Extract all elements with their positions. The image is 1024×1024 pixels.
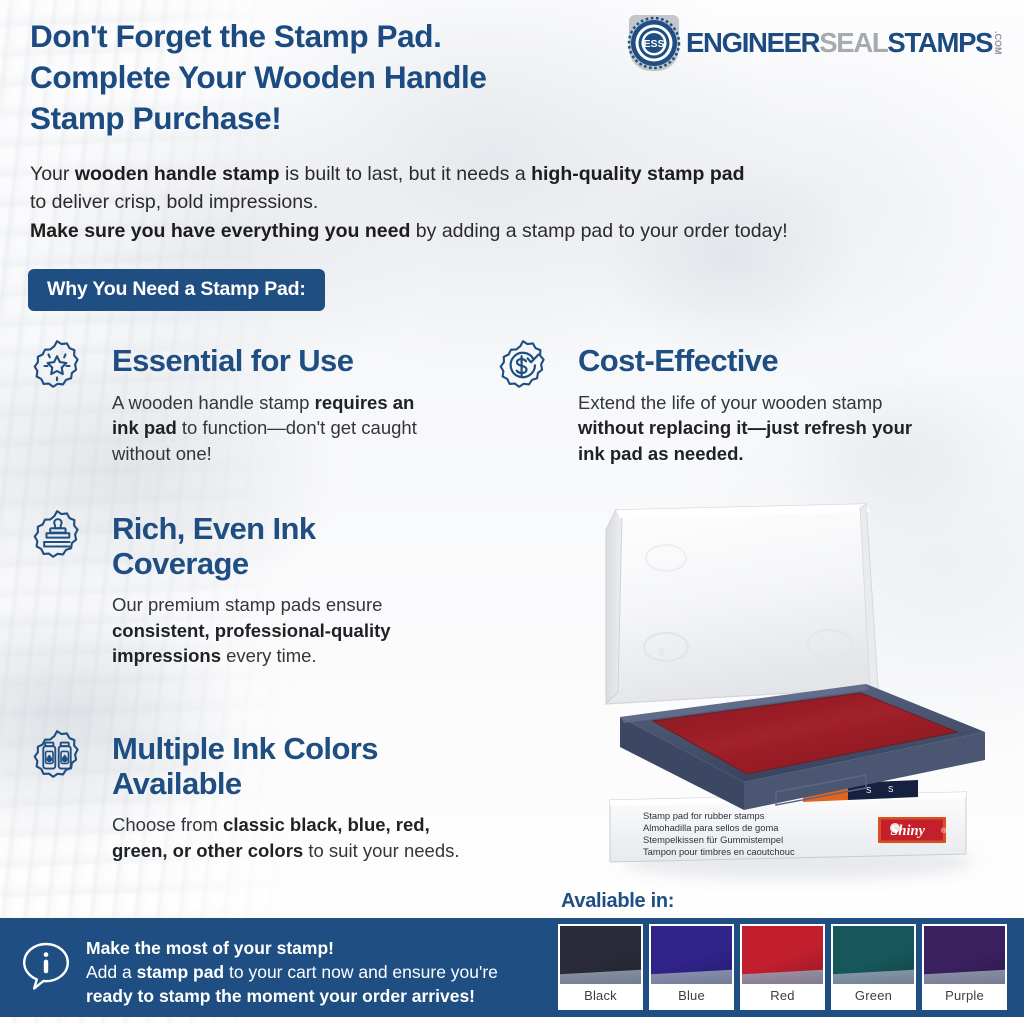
feature-title-line: Cost-Effective [578, 344, 1004, 379]
feature-multiple-ink-colors: Multiple Ink Colors Available Choose fro… [28, 728, 508, 863]
body-run-bold: ink pad as needed. [578, 443, 744, 464]
feature-title: Essential for Use [112, 338, 478, 379]
cta-run: to your cart now and ensure you're [224, 962, 498, 982]
feature-title-line: Rich, Even Ink [112, 512, 448, 547]
cta-run-bold: stamp pad [137, 962, 225, 982]
body-run-bold: classic black, blue, red, [223, 814, 430, 835]
intro-line-2: to deliver crisp, bold impressions. [30, 188, 910, 216]
feature-title: Rich, Even Ink Coverage [112, 508, 448, 581]
cta-line-2: Add a stamp pad to your cart now and ens… [86, 960, 566, 984]
box-text-line-2: Almohadilla para sellos de goma [643, 822, 779, 833]
swatch-label: Purple [924, 984, 1005, 1008]
feature-body-line-1: A wooden handle stamp requires an [112, 390, 478, 416]
stamp-pad-lid: S [606, 504, 878, 704]
swatch-blue[interactable]: Blue [649, 924, 734, 1010]
feature-body-line-2: green, or other colors to suit your need… [112, 838, 508, 864]
section-pill-why-stamp-pad: Why You Need a Stamp Pad: [28, 269, 325, 311]
feature-body-line-1: Choose from classic black, blue, red, [112, 812, 508, 838]
swatch-green[interactable]: Green [831, 924, 916, 1010]
intro-l3-a: Make sure you have everything you need [30, 220, 410, 242]
feature-body: Extend the life of your wooden stamp wit… [578, 390, 1004, 467]
feature-title: Cost-Effective [578, 338, 1004, 379]
feature-body: A wooden handle stamp requires an ink pa… [112, 390, 478, 467]
ess-gear-badge-icon: ESS [626, 15, 682, 71]
svg-text:S: S [658, 647, 665, 658]
feature-title: Multiple Ink Colors Available [112, 728, 508, 801]
intro-l1-d: high-quality stamp pad [531, 163, 744, 185]
cta-text-block: Make the most of your stamp! Add a stamp… [86, 936, 566, 1008]
rubber-stamp-badge-icon [28, 508, 86, 566]
body-run: to function—don't get caught [177, 417, 417, 438]
body-run: Choose from [112, 814, 223, 835]
headline-line-2: Complete Your Wooden Handle [30, 57, 650, 98]
logo-wordmark: ENGINEERSEALSTAMPS.COM [686, 29, 1002, 57]
box-text-line-4: Tampon pour timbres en caoutchouc [643, 846, 795, 857]
body-run: to suit your needs. [303, 840, 459, 861]
intro-paragraph: Your wooden handle stamp is built to las… [30, 160, 910, 245]
svg-text:S: S [866, 786, 871, 795]
feature-body: Choose from classic black, blue, red, gr… [112, 812, 508, 863]
logo-word-engineer: ENGINEER [686, 29, 819, 57]
feature-body-line-1: Our premium stamp pads ensure [112, 592, 448, 618]
feature-body-line-3: ink pad as needed. [578, 441, 1004, 467]
swatch-color-chip [742, 926, 823, 984]
feature-body-line-3: impressions every time. [112, 643, 448, 669]
logo-word-seal: SEAL [819, 29, 887, 57]
feature-essential-for-use: Essential for Use A wooden handle stamp … [28, 338, 478, 466]
feature-body: Our premium stamp pads ensure consistent… [112, 592, 448, 669]
promo-page: Don't Forget the Stamp Pad. Complete You… [0, 0, 1024, 1024]
intro-line-1: Your wooden handle stamp is built to las… [30, 160, 910, 188]
body-run-bold: impressions [112, 645, 221, 666]
box-text-line-3: Stempelkissen für Gummistempel [643, 834, 783, 845]
cta-line-3-bold: ready to stamp the moment your order arr… [86, 986, 475, 1006]
ess-badge-text: ESS [643, 38, 664, 50]
feature-body-line-2: consistent, professional-quality [112, 618, 448, 644]
swatch-color-chip [651, 926, 732, 984]
feature-body-line-2: ink pad to function—don't get caught [112, 415, 478, 441]
swatch-purple[interactable]: Purple [922, 924, 1007, 1010]
swatch-black[interactable]: Black [558, 924, 643, 1010]
body-run: every time. [221, 645, 317, 666]
feature-title-line: Multiple Ink Colors [112, 732, 508, 767]
body-run-bold: ink pad [112, 417, 177, 438]
swatch-label: Black [560, 984, 641, 1008]
cta-line-1-bold: Make the most of your stamp! [86, 938, 334, 958]
brand-logo[interactable]: ESS ENGINEERSEALSTAMPS.COM [626, 14, 1016, 72]
body-run-bold: green, or other colors [112, 840, 303, 861]
body-run: A wooden handle stamp [112, 392, 315, 413]
feature-title-line: Coverage [112, 547, 448, 582]
svg-text:S: S [888, 785, 893, 794]
intro-l1-b: wooden handle stamp [75, 163, 280, 185]
product-photo-stamp-pad: Stamp pad for rubber stamps Almohadilla … [548, 492, 1018, 892]
swatch-label: Blue [651, 984, 732, 1008]
feature-rich-even-ink-coverage: Rich, Even Ink Coverage Our premium stam… [28, 508, 448, 669]
box-text-line-1: Stamp pad for rubber stamps [643, 810, 765, 821]
swatch-red[interactable]: Red [740, 924, 825, 1010]
cta-line-1: Make the most of your stamp! [86, 936, 566, 960]
feature-body-line-3: without one! [112, 441, 478, 467]
cta-line-3: ready to stamp the moment your order arr… [86, 984, 566, 1008]
swatch-color-chip [924, 926, 1005, 984]
logo-word-stamps: STAMPS [887, 29, 992, 57]
shiny-brand-badge: Shiny ® [878, 817, 947, 843]
body-run-bold: requires an [315, 392, 415, 413]
swatch-color-chip [560, 926, 641, 984]
intro-line-3: Make sure you have everything you need b… [30, 217, 910, 245]
feature-title-line: Available [112, 767, 508, 802]
headline-line-1: Don't Forget the Stamp Pad. [30, 16, 650, 57]
cta-run: Add a [86, 962, 137, 982]
swatch-color-chip [833, 926, 914, 984]
star-badge-icon [28, 338, 86, 396]
body-run-bold: without replacing it—just refresh your [578, 417, 912, 438]
intro-l1-a: Your [30, 163, 75, 185]
svg-text:®: ® [941, 827, 947, 835]
info-bubble-icon [20, 940, 72, 992]
available-in-heading: Avaliable in: [561, 890, 674, 913]
dollar-check-badge-icon [494, 338, 552, 396]
feature-cost-effective: Cost-Effective Extend the life of your w… [494, 338, 1004, 466]
swatch-label: Green [833, 984, 914, 1008]
feature-title-line: Essential for Use [112, 344, 478, 379]
ink-bottles-badge-icon [28, 728, 86, 786]
intro-l3-b: by adding a stamp pad to your order toda… [410, 220, 787, 242]
feature-body-line-1: Extend the life of your wooden stamp [578, 390, 1004, 416]
intro-l1-c: is built to last, but it needs a [280, 163, 531, 185]
feature-body-line-2: without replacing it—just refresh your [578, 415, 1004, 441]
body-run-bold: consistent, professional-quality [112, 620, 391, 641]
stamp-pad-base [620, 684, 985, 810]
swatch-label: Red [742, 984, 823, 1008]
headline-line-3: Stamp Purchase! [30, 98, 650, 139]
ink-color-swatch-list: Black Blue Red Green Purple [558, 924, 1007, 1010]
logo-word-tld: .COM [993, 31, 1002, 55]
page-headline: Don't Forget the Stamp Pad. Complete You… [30, 16, 650, 139]
